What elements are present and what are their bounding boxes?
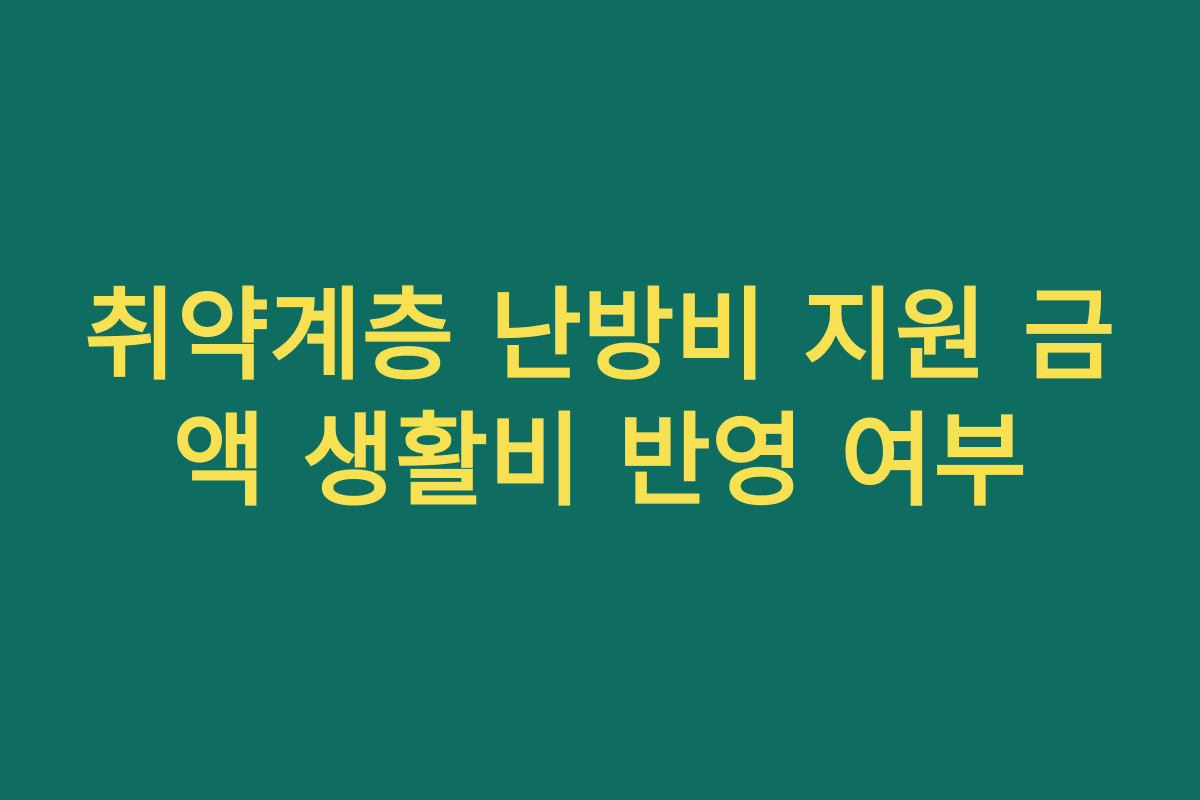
headline-block: 취약계층 난방비 지원 금 액 생활비 반영 여부 <box>60 273 1140 524</box>
headline-line-2: 액 생활비 반영 여부 <box>80 398 1120 524</box>
thumbnail-card: 취약계층 난방비 지원 금 액 생활비 반영 여부 <box>0 0 1200 800</box>
headline-line-1: 취약계층 난방비 지원 금 <box>80 273 1120 398</box>
